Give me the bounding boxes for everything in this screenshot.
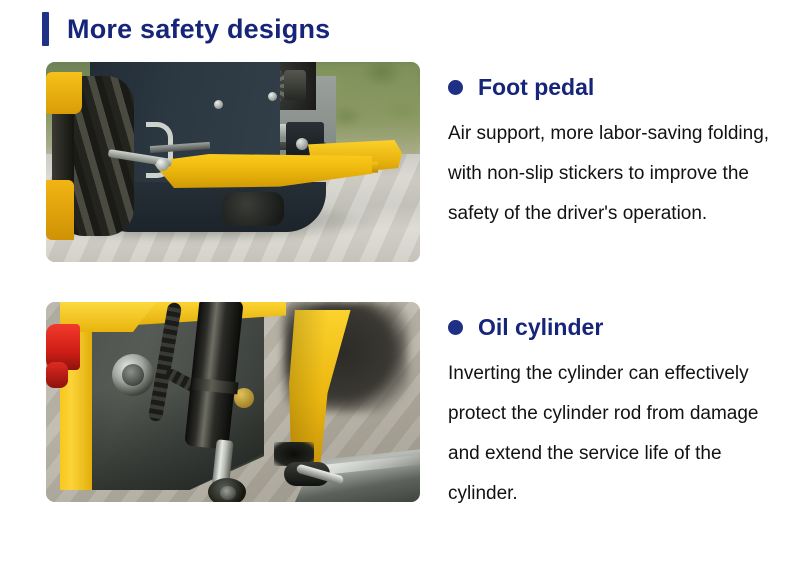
- product-feature-page: More safety designs: [0, 0, 800, 573]
- feature-heading-foot-pedal: Foot pedal: [448, 72, 782, 102]
- photo2-rod-end-bushing: [220, 486, 236, 500]
- feature-description: Inverting the cylinder can effectively p…: [448, 354, 782, 514]
- feature-block-oil-cylinder: Oil cylinder Inverting the cylinder can …: [448, 312, 782, 514]
- photo1-deck-bolt-right: [268, 92, 277, 101]
- photo2-red-tail-light-lower: [46, 362, 68, 388]
- feature-description: Air support, more labor-saving folding, …: [448, 114, 782, 234]
- page-title: More safety designs: [42, 12, 330, 46]
- photo1-deck-bolt-left: [214, 100, 223, 109]
- page-title-text: More safety designs: [67, 12, 330, 46]
- feature-title: Foot pedal: [478, 72, 594, 102]
- title-accent-bar: [42, 12, 49, 46]
- photo1-axle-housing: [222, 192, 284, 226]
- photo1-bracket-bolt: [296, 138, 308, 150]
- feature-image-foot-pedal: [46, 62, 420, 262]
- photo1-engine-cap: [284, 70, 306, 100]
- feature-heading-oil-cylinder: Oil cylinder: [448, 312, 782, 342]
- filled-circle-icon: [448, 320, 463, 335]
- photo1-front-fender: [46, 72, 82, 114]
- photo1-lower-fender: [46, 180, 74, 240]
- filled-circle-icon: [448, 80, 463, 95]
- feature-block-foot-pedal: Foot pedal Air support, more labor-savin…: [448, 72, 782, 234]
- photo1-pivot-bolt: [156, 158, 169, 171]
- photo2-port-inner: [122, 364, 144, 386]
- feature-title: Oil cylinder: [478, 312, 603, 342]
- feature-image-oil-cylinder: [46, 302, 420, 502]
